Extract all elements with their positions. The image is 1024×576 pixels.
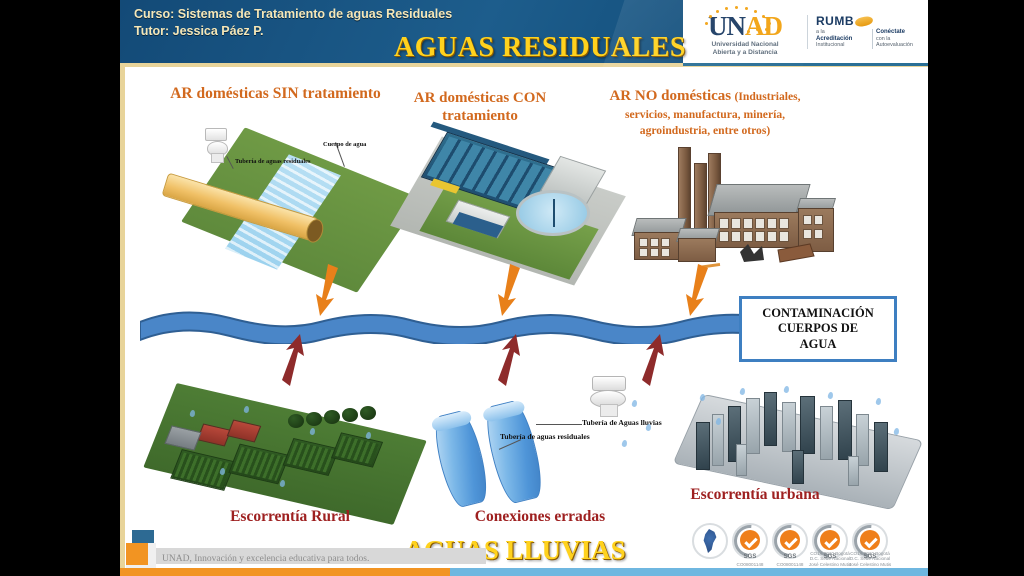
badge-sgs-note-1: CO08001148 bbox=[728, 562, 772, 567]
section-title-right-p3: agroindustria, entre otros) bbox=[640, 124, 770, 137]
illustration-rural-runoff bbox=[160, 408, 420, 508]
tower-4 bbox=[746, 398, 760, 454]
tower-11 bbox=[874, 422, 888, 472]
check-icon bbox=[860, 530, 880, 550]
contamination-line-2: CUERPOS DE bbox=[778, 321, 858, 335]
logo-panel: UNAD Universidad Nacional Abierta y a Di… bbox=[683, 0, 928, 66]
unad-subtitle-2: Abierta y a Distancia bbox=[691, 49, 799, 57]
illustration-wrong-connections: Tubería de Aguas lluvias Tubería de agua… bbox=[440, 376, 670, 504]
section-title-right-p2: servicios, manufactura, minería, bbox=[625, 108, 785, 121]
section-title-center: AR domésticas CON tratamiento bbox=[385, 90, 575, 125]
rumbo-autoeval: Autoevaluación bbox=[876, 42, 913, 49]
unad-logo: UNAD Universidad Nacional Abierta y a Di… bbox=[691, 2, 799, 62]
footer-color-bar bbox=[120, 568, 928, 576]
certification-badges: SGS CO08001148 SGS CO08001148 SGS CO14-0… bbox=[692, 518, 892, 564]
caption-rural-runoff: Escorrentía Rural bbox=[180, 508, 400, 526]
footer-tagline: UNAD, Innovación y excelencia educativa … bbox=[156, 554, 369, 564]
slide-title: AGUAS RESIDUALES bbox=[320, 32, 760, 64]
rumbo-taglines: a la Acreditación Institucional Conéctat… bbox=[816, 29, 924, 49]
caption-wrong-connections: Conexiones erradas bbox=[430, 508, 650, 526]
rumbo-acred-sub: Institucional bbox=[816, 42, 872, 49]
tower-5 bbox=[764, 392, 777, 446]
badge-sgs-note-4: CO14-0010 Bogotá D.C. Sede Nacional José… bbox=[848, 551, 892, 567]
tower-9 bbox=[838, 400, 852, 460]
unad-dots-arc bbox=[699, 6, 791, 32]
logo-divider bbox=[807, 15, 808, 49]
unad-wordmark: UNAD bbox=[691, 11, 799, 41]
label-water-body: Cuerpo de agua bbox=[323, 141, 366, 148]
badge-sgs-label-1: SGS bbox=[732, 554, 768, 560]
badge-sgs-4: SGS CO14-0010 Bogotá D.C. Sede Nacional … bbox=[852, 523, 888, 559]
check-icon bbox=[820, 530, 840, 550]
decor-square-orange bbox=[126, 543, 156, 569]
rumbo-logo: RUMB a la Acreditación Institucional Con… bbox=[816, 14, 924, 49]
badge-sgs-note-2: CO08001148 bbox=[768, 562, 812, 567]
pipe-right bbox=[481, 398, 548, 506]
badge-sgs-3: SGS CO14-0010 Bogotá D.C. Sede Nacional … bbox=[812, 523, 848, 559]
course-line: Curso: Sistemas de Tratamiento de aguas … bbox=[134, 6, 452, 23]
check-icon bbox=[740, 530, 760, 550]
section-title-right-main: AR NO domésticas bbox=[609, 88, 731, 104]
badge-sgs-label-2: SGS bbox=[772, 554, 808, 560]
contamination-box: CONTAMINACIÓN CUERPOS DE AGUA bbox=[739, 296, 897, 362]
tower-14 bbox=[848, 456, 859, 486]
pipe-left bbox=[429, 408, 492, 509]
badge-sgs-1: SGS CO08001148 bbox=[732, 523, 768, 559]
section-title-left: AR domésticas SIN tratamiento bbox=[168, 85, 383, 103]
orange-arrow-2 bbox=[498, 264, 520, 316]
tower-8 bbox=[820, 406, 833, 460]
slide-stage: Curso: Sistemas de Tratamiento de aguas … bbox=[0, 0, 1024, 576]
contamination-text: CONTAMINACIÓN CUERPOS DE AGUA bbox=[762, 306, 874, 353]
check-icon bbox=[780, 530, 800, 550]
badge-sgs-note-3: CO14-0010 Bogotá D.C. Sede Nacional José… bbox=[808, 551, 852, 567]
tower-7 bbox=[800, 396, 815, 454]
tower-12 bbox=[736, 444, 747, 476]
presentation-slide: Curso: Sistemas de Tratamiento de aguas … bbox=[120, 0, 928, 576]
tower-1 bbox=[696, 422, 710, 470]
section-title-right: AR NO domésticas (Industriales, servicio… bbox=[575, 88, 835, 138]
contamination-line-3: AGUA bbox=[800, 337, 837, 351]
label-pipe-wastewater-2: Tubería de aguas residuales bbox=[500, 432, 590, 441]
red-arrow-1 bbox=[282, 334, 304, 386]
toilet-icon bbox=[203, 128, 229, 162]
plant-clarifier bbox=[516, 190, 590, 236]
section-title-right-p1: (Industriales, bbox=[735, 90, 801, 103]
caption-urban-runoff: Escorrentía urbana bbox=[640, 486, 870, 504]
slide-header: Curso: Sistemas de Tratamiento de aguas … bbox=[120, 0, 928, 67]
badge-sgs-2: SGS CO08001148 bbox=[772, 523, 808, 559]
tower-6 bbox=[782, 402, 796, 452]
orange-arrow-3 bbox=[686, 264, 708, 316]
toilet-icon-2 bbox=[588, 376, 628, 416]
contamination-line-1: CONTAMINACIÓN bbox=[762, 306, 874, 320]
tower-13 bbox=[792, 450, 804, 484]
orange-arrow-1 bbox=[316, 264, 338, 316]
illustration-untreated-discharge: Tubería de aguas residuales Cuerpo de ag… bbox=[165, 128, 405, 278]
footer-tagline-bar: UNAD, Innovación y excelencia educativa … bbox=[156, 548, 486, 564]
rumbo-swoosh-icon bbox=[854, 15, 873, 28]
badge-colombia-emblem bbox=[692, 523, 728, 559]
label-pipe-wastewater: Tubería de aguas residuales bbox=[235, 158, 310, 165]
unad-subtitle-1: Universidad Nacional bbox=[691, 41, 799, 49]
rumbo-wordmark: RUMB bbox=[816, 14, 924, 28]
illustration-treatment-plant bbox=[410, 130, 610, 280]
